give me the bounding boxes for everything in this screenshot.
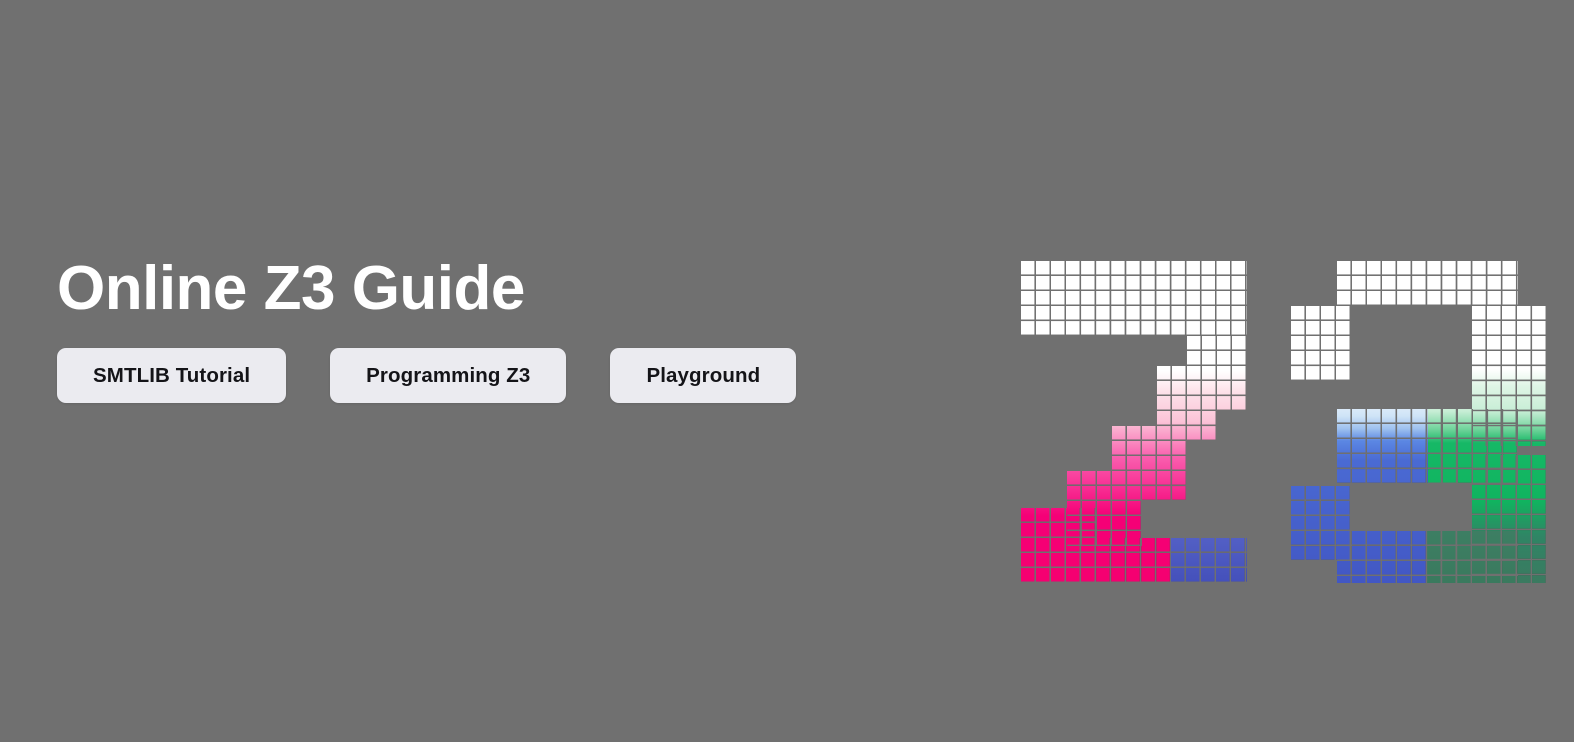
logo-cell-block <box>1171 538 1247 583</box>
hero-banner: Online Z3 Guide SMTLIB Tutorial Programm… <box>0 0 1574 742</box>
page-title: Online Z3 Guide <box>57 258 977 320</box>
logo-cell-block <box>1021 538 1171 583</box>
smtlib-tutorial-button[interactable]: SMTLIB Tutorial <box>57 348 286 403</box>
logo-glyph-3 <box>1291 261 1517 583</box>
cta-button-row: SMTLIB Tutorial Programming Z3 Playgroun… <box>57 348 977 403</box>
logo-cell-block <box>1427 531 1518 583</box>
z3-pixel-logo <box>1021 261 1517 583</box>
programming-z3-button[interactable]: Programming Z3 <box>330 348 566 403</box>
logo-glyph-7 <box>1021 261 1247 583</box>
logo-cell-block <box>1291 306 1351 381</box>
logo-cell-block <box>1337 261 1518 306</box>
playground-button[interactable]: Playground <box>610 348 796 403</box>
logo-cell-block <box>1021 261 1247 336</box>
hero-text-block: Online Z3 Guide SMTLIB Tutorial Programm… <box>57 258 977 403</box>
